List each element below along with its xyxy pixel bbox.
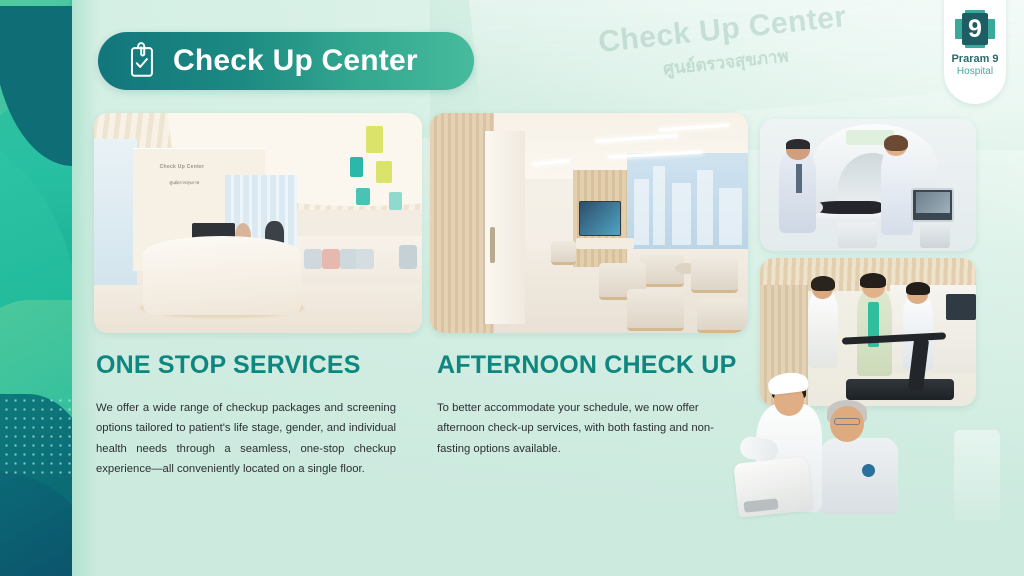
- section-body-afternoon: To better accommodate your schedule, we …: [437, 398, 737, 460]
- logo-subtitle: Hospital: [957, 66, 993, 78]
- hospital-logo: 9 Praram 9 Hospital: [944, 0, 1006, 104]
- section-afternoon-check-up: AFTERNOON CHECK UP To better accommodate…: [437, 352, 737, 459]
- left-decorative-strip: [0, 0, 72, 576]
- photo-nurse-with-patient: [738, 378, 908, 513]
- edge-dot-pattern: [2, 396, 72, 476]
- background-panel-accent: [954, 430, 1000, 520]
- photo-ct-scanner: [760, 119, 976, 251]
- section-heading-one-stop: ONE STOP SERVICES: [96, 352, 396, 380]
- page-title: Check Up Center: [173, 44, 418, 78]
- section-heading-afternoon: AFTERNOON CHECK UP: [437, 352, 737, 380]
- page-title-pill: Check Up Center: [98, 32, 474, 90]
- photo-waiting-lounge: [430, 113, 748, 333]
- logo-name: Praram 9: [951, 53, 998, 66]
- clipboard-check-icon: [124, 42, 158, 80]
- slide-canvas: Check Up Center ศูนย์ตรวจสุขภาพ Check Up…: [0, 0, 1024, 576]
- photo-reception-desk: Check Up Center ศูนย์ตรวจสุขภาพ: [94, 113, 422, 333]
- section-one-stop-services: ONE STOP SERVICES We offer a wide range …: [96, 352, 396, 480]
- logo-number: 9: [962, 13, 988, 45]
- logo-mark-icon: 9: [955, 10, 995, 48]
- reception-artwork: Check Up Center ศูนย์ตรวจสุขภาพ: [94, 113, 422, 333]
- lounge-artwork: [430, 113, 748, 333]
- edge-shape-2: [0, 6, 72, 166]
- scanner-artwork: [760, 119, 976, 251]
- section-body-one-stop: We offer a wide range of checkup package…: [96, 398, 396, 480]
